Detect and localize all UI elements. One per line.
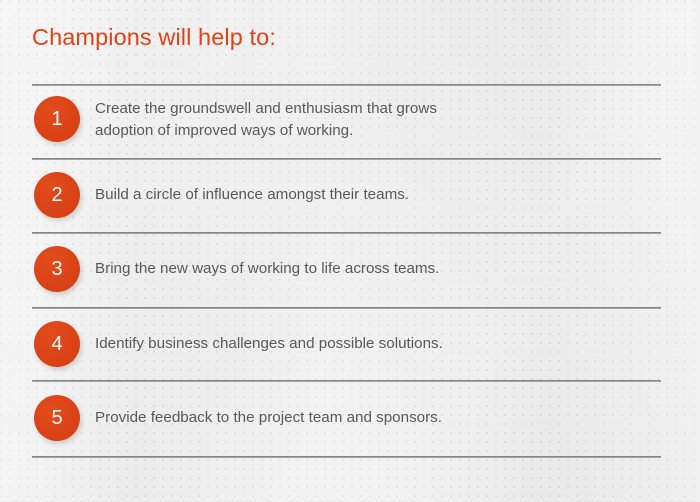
number-badge-4: 4 xyxy=(34,321,80,367)
divider-1 xyxy=(32,158,661,160)
list-item-text-line: Create the groundswell and enthusiasm th… xyxy=(95,98,655,120)
list-item-text: Identify business challenges and possibl… xyxy=(95,333,655,355)
page-title: Champions will help to: xyxy=(32,22,276,52)
divider-4 xyxy=(32,380,661,382)
list-item-text: Bring the new ways of working to life ac… xyxy=(95,258,655,280)
list-item[interactable]: 2 Build a circle of influence amongst th… xyxy=(32,172,661,220)
divider-2 xyxy=(32,232,661,234)
list-item-text-line: adoption of improved ways of working. xyxy=(95,120,655,142)
number-badge-3: 3 xyxy=(34,246,80,292)
divider-top xyxy=(32,84,661,86)
divider-3 xyxy=(32,307,661,309)
divider-bottom xyxy=(32,456,661,458)
list-item[interactable]: 5 Provide feedback to the project team a… xyxy=(32,395,661,443)
list-item[interactable]: 1 Create the groundswell and enthusiasm … xyxy=(32,96,661,152)
list-item-text: Provide feedback to the project team and… xyxy=(95,407,655,429)
list-item[interactable]: 3 Bring the new ways of working to life … xyxy=(32,246,661,294)
list-item-text: Build a circle of influence amongst thei… xyxy=(95,184,655,206)
list-item-text-line: Bring the new ways of working to life ac… xyxy=(95,258,655,280)
number-badge-1: 1 xyxy=(34,96,80,142)
number-badge-2: 2 xyxy=(34,172,80,218)
slide-canvas: Champions will help to: 1 Create the gro… xyxy=(0,0,700,502)
list-item-text-line: Build a circle of influence amongst thei… xyxy=(95,184,655,206)
list-item[interactable]: 4 Identify business challenges and possi… xyxy=(32,321,661,369)
list-item-text: Create the groundswell and enthusiasm th… xyxy=(95,98,655,142)
list-item-text-line: Identify business challenges and possibl… xyxy=(95,333,655,355)
list-item-text-line: Provide feedback to the project team and… xyxy=(95,407,655,429)
number-badge-5: 5 xyxy=(34,395,80,441)
